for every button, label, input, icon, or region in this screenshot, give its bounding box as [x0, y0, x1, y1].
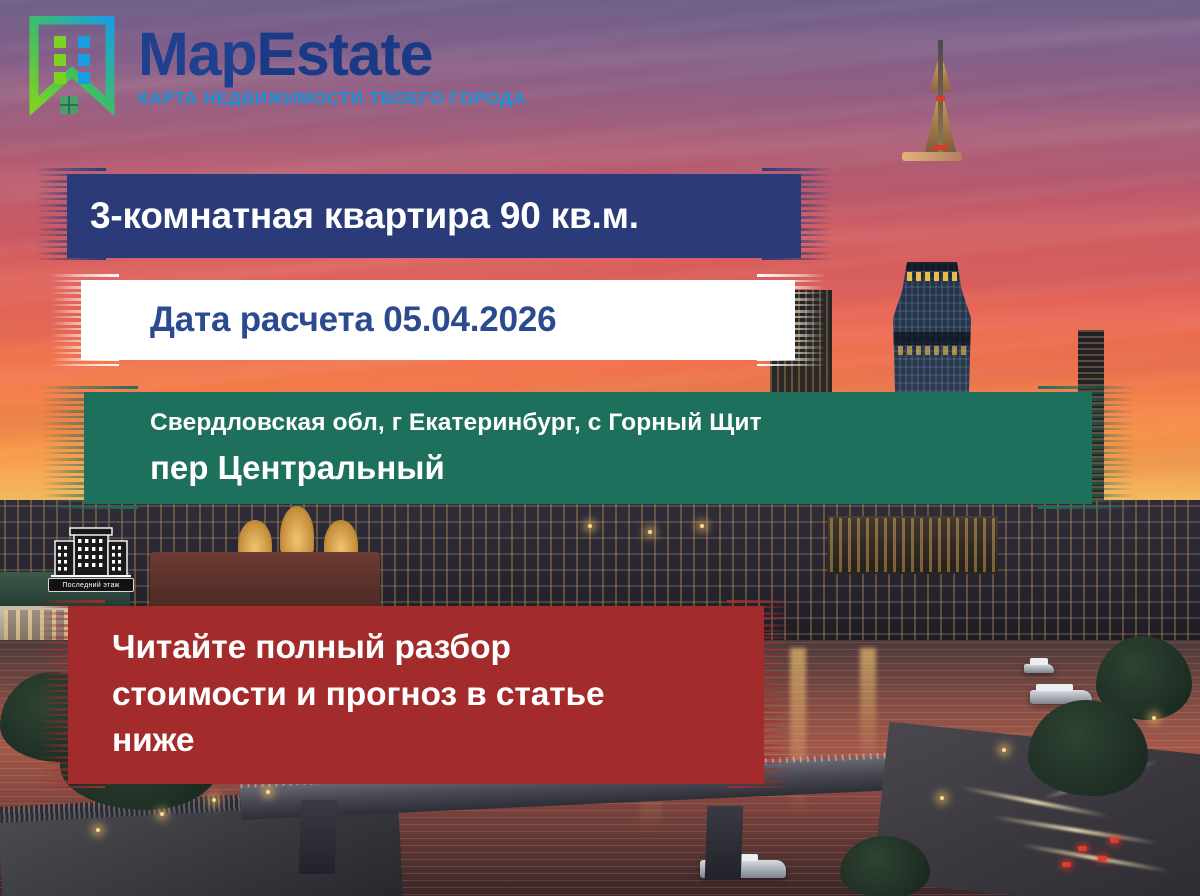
car-taillight	[1078, 846, 1087, 851]
bridge-pier	[705, 806, 744, 880]
banner-content: Читайте полный разбор стоимости и прогно…	[46, 625, 786, 766]
light-reflection	[860, 648, 876, 768]
street-lamp	[96, 828, 100, 832]
street-lamp	[1152, 716, 1156, 720]
river-boat	[1024, 664, 1054, 673]
address-banner: Свердловская обл, г Екатеринбург, с Горн…	[52, 386, 1124, 510]
car-taillight	[1110, 838, 1119, 843]
property-title-banner: 3-комнатная квартира 90 кв.м.	[44, 168, 824, 264]
street-lamp	[940, 796, 944, 800]
cta-line-1: Читайте полный разбор	[112, 625, 786, 672]
street-lamp	[700, 524, 704, 528]
car-taillight	[1098, 856, 1107, 861]
calculation-date-text: Дата расчета 05.04.2026	[150, 300, 818, 340]
property-title-text: 3-комнатная квартира 90 кв.м.	[90, 195, 824, 237]
poster-canvas: MapEstate КАРТА НЕДВИЖИМОСТИ ТВОЕГО ГОРО…	[0, 0, 1200, 896]
street-lamp	[1002, 748, 1006, 752]
watermark-label: Последний этаж	[48, 578, 134, 592]
tower-lit-floor	[898, 346, 967, 355]
logo-word-estate: Estate	[256, 20, 432, 88]
civic-building	[828, 516, 998, 574]
antenna-beacon-upper	[936, 96, 945, 101]
banner-content: Свердловская обл, г Екатеринбург, с Горн…	[52, 409, 1124, 487]
tower-lit-floor	[898, 272, 967, 281]
bridge-pier	[299, 800, 338, 874]
cta-line-2: стоимости и прогноз в статье	[112, 672, 786, 719]
street-lamp	[648, 530, 652, 534]
logo-wordmark: MapEstate	[138, 24, 526, 85]
banner-content: 3-комнатная квартира 90 кв.м.	[44, 195, 824, 237]
tower-band	[893, 332, 971, 345]
calculation-date-banner: Дата расчета 05.04.2026	[58, 274, 818, 366]
logo-word-map: Map	[138, 20, 256, 88]
address-street-text: пер Центральный	[150, 449, 1124, 487]
car-taillight	[1062, 862, 1071, 867]
apartment-building-icon	[46, 524, 136, 578]
bookmark-building-icon	[28, 16, 124, 116]
cta-line-3: ниже	[112, 718, 786, 765]
brand-logo[interactable]: MapEstate КАРТА НЕДВИЖИМОСТИ ТВОЕГО ГОРО…	[28, 16, 526, 116]
cathedral-dome	[280, 506, 314, 554]
photo-watermark: Последний этаж	[46, 524, 136, 592]
street-lamp	[588, 524, 592, 528]
logo-text-block: MapEstate КАРТА НЕДВИЖИМОСТИ ТВОЕГО ГОРО…	[138, 16, 526, 109]
street-lamp	[160, 812, 164, 816]
address-region-text: Свердловская обл, г Екатеринбург, с Горн…	[150, 409, 1124, 437]
antenna-beacon-lower	[933, 145, 948, 150]
banner-content: Дата расчета 05.04.2026	[58, 300, 818, 340]
cta-banner: Читайте полный разбор стоимости и прогно…	[46, 600, 786, 790]
logo-tagline: КАРТА НЕДВИЖИМОСТИ ТВОЕГО ГОРОДА	[138, 88, 526, 109]
street-lamp	[266, 790, 270, 794]
tower-crown	[902, 152, 962, 161]
street-lamp	[212, 798, 216, 802]
